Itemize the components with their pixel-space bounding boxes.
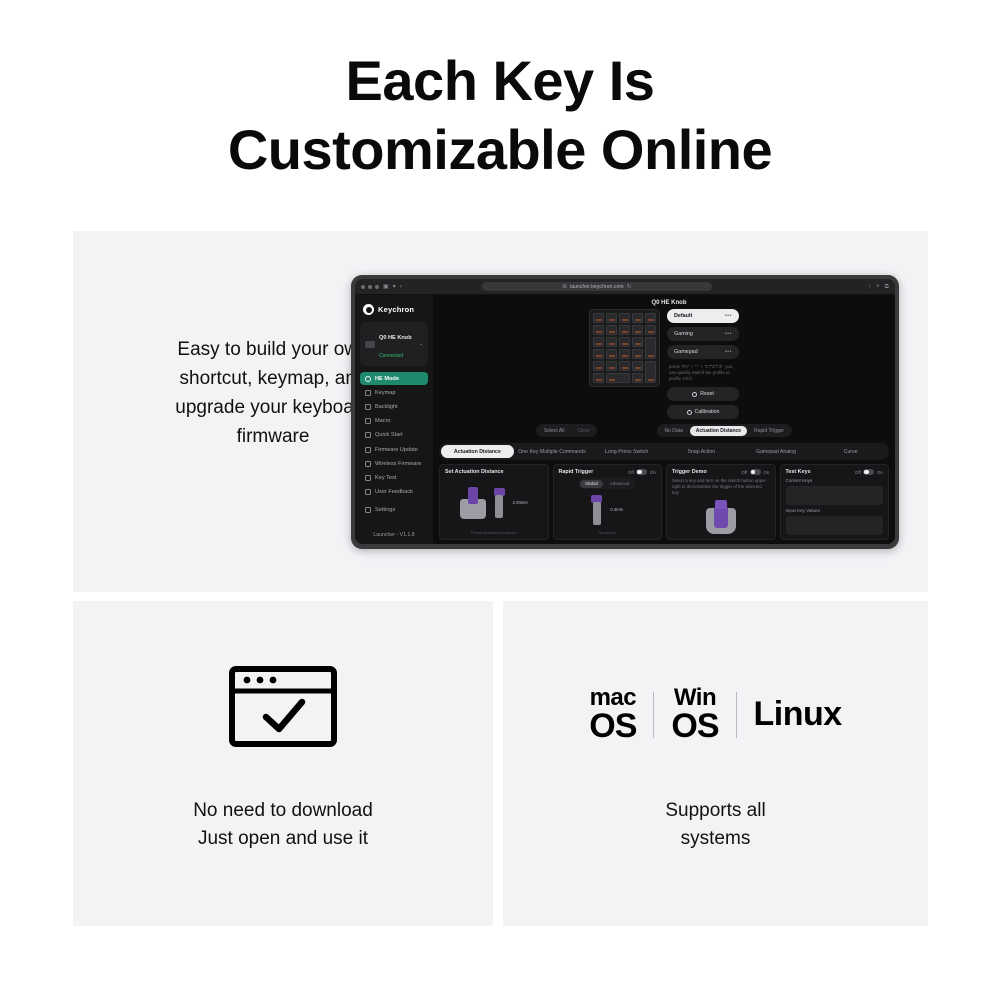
switch-top <box>715 500 727 509</box>
feature-card-download: No need to download Just open and use it <box>73 601 493 926</box>
laptop-mockup: ▣ ▾ ‹ ⊕ launcher.keychron.com ↻ ↑ + ⧉ <box>351 275 899 549</box>
toolbar-row: Select All Clear No Data Actuation Dista… <box>439 423 889 439</box>
laptop-screen: ▣ ▾ ‹ ⊕ launcher.keychron.com ↻ ↑ + ⧉ <box>355 279 895 544</box>
hero-card: Easy to build your own shortcut, keymap,… <box>73 231 928 592</box>
launcher-app: Keychron Q0 HE Knob Connected ⌄ <box>355 295 895 544</box>
input-key-values-field[interactable] <box>786 516 884 535</box>
panel-trigger-demo: Trigger Demo Off On Select a key and tur… <box>666 464 776 540</box>
keyboard-section: Q0 HE Knob <box>439 300 889 419</box>
sidebar-item-label: Keymap <box>375 390 396 396</box>
device-name: Q0 HE Knob <box>379 335 412 341</box>
device-text: Q0 HE Knob Connected <box>379 326 415 362</box>
sidebar-item-label: Macro <box>375 418 391 424</box>
toggle-off-label: Off <box>741 470 747 475</box>
sidebar-item-label: User Feedback <box>375 489 413 495</box>
sidebar-item-firmware-update[interactable]: Firmware Update <box>360 443 428 456</box>
key[interactable] <box>632 373 643 383</box>
more-icon[interactable]: ••• <box>725 349 732 355</box>
divider <box>653 692 654 738</box>
tab-gamepad-analog[interactable]: Gamepad Analog <box>740 445 813 458</box>
keyboard-icon <box>365 341 375 348</box>
sidebar-item-label: Backlight <box>375 404 398 410</box>
panel-test-keys: Test Keys Off On Current Keys Input <box>780 464 890 540</box>
selection-tools: Select All Clear <box>536 424 597 437</box>
tab-actuation-distance[interactable]: Actuation Distance <box>441 445 514 458</box>
page-title: Each Key Is Customizable Online <box>0 46 1000 184</box>
calibration-button[interactable]: Calibration <box>667 405 739 419</box>
keyboard-and-profiles: Default ••• Gaming ••• Gamepad <box>589 309 739 419</box>
sidebar-item-he-mode[interactable]: HE Mode <box>360 372 428 385</box>
toggle-on-label: On <box>877 470 883 475</box>
sidebar-item-keymap[interactable]: Keymap <box>360 386 428 399</box>
toggle-off-label: Off <box>855 470 861 475</box>
more-icon[interactable]: ••• <box>725 331 732 337</box>
he-mode-icon <box>365 376 371 382</box>
switch-inner <box>714 506 728 528</box>
key[interactable] <box>619 361 630 371</box>
key[interactable] <box>606 337 617 347</box>
clear-button[interactable]: Clear <box>571 426 595 436</box>
view-mode-rapid-trigger[interactable]: Rapid Trigger <box>748 426 790 436</box>
download-caption: No need to download Just open and use it <box>73 797 493 853</box>
panel-title: Rapid Trigger <box>559 469 594 475</box>
tab-one-key-multiple-commands[interactable]: One Key Multiple Commands <box>516 445 589 458</box>
switch-housing-icon <box>460 487 486 519</box>
profile-gamepad[interactable]: Gamepad ••• <box>667 345 739 359</box>
key[interactable] <box>593 373 604 383</box>
tab-long-press-switch[interactable]: Long-Press Switch <box>590 445 663 458</box>
os-logo-row: mac OS Win OS Linux <box>503 687 928 742</box>
key[interactable] <box>606 349 617 359</box>
sidebar-item-label: Settings <box>375 507 395 513</box>
key-test-icon <box>365 475 371 481</box>
nav-divider <box>360 500 428 503</box>
sidebar-nav: HE Mode Keymap Backlight <box>360 372 428 526</box>
device-status: Connected <box>379 353 403 359</box>
key[interactable] <box>645 361 656 383</box>
wireless-firmware-icon <box>365 461 371 467</box>
profile-hint: press "Fn" + "`" + "1"/"2"/"3", you can … <box>667 363 739 383</box>
tab-overview-icon[interactable]: ⧉ <box>885 284 889 290</box>
toggle-off-label: Off <box>628 470 634 475</box>
back-icon[interactable]: ‹ <box>400 284 402 290</box>
sidebar-item-label: HE Mode <box>375 376 399 382</box>
app-sidebar: Keychron Q0 HE Knob Connected ⌄ <box>355 295 433 544</box>
mode-advanced[interactable]: Advanced <box>605 480 635 488</box>
sidebar-item-label: Quick Start <box>375 432 403 438</box>
rapid-trigger-caption: Sensitivity <box>559 530 657 535</box>
actuation-caption: Preset Actuation Distance <box>445 530 543 535</box>
slider-rod <box>593 502 601 525</box>
panel-header: Rapid Trigger Off On <box>559 469 657 475</box>
view-mode-switch: No Data Actuation Distance Rapid Trigger <box>657 424 792 437</box>
rapid-trigger-slider[interactable] <box>591 495 602 525</box>
launcher-version: Launcher - V1.1.8 <box>360 528 428 540</box>
current-keys-field[interactable] <box>786 486 884 505</box>
macro-icon <box>365 418 371 424</box>
panel-title: Set Actuation Distance <box>445 469 504 475</box>
panel-rapid-trigger: Rapid Trigger Off On Global Adv <box>553 464 663 540</box>
app-main: Q0 HE Knob <box>433 295 895 544</box>
switch-stem <box>468 487 478 504</box>
winos-logo: Win OS <box>671 687 718 742</box>
rapid-trigger-value: 0.4mm <box>610 507 623 512</box>
chevron-down-icon[interactable]: ▾ <box>393 284 396 290</box>
key[interactable] <box>619 313 630 323</box>
brand: Keychron <box>360 301 428 320</box>
user-feedback-icon <box>365 489 371 495</box>
slider-rod <box>495 495 503 518</box>
gear-icon <box>365 507 371 513</box>
key[interactable] <box>606 313 617 323</box>
key[interactable] <box>606 373 630 383</box>
toggle-on-label: On <box>650 470 656 475</box>
backlight-icon <box>365 404 371 410</box>
sidebar-item-macro[interactable]: Macro <box>360 415 428 428</box>
sidebar-item-label: Wireless Firmware <box>375 461 421 467</box>
toggle-switch[interactable] <box>750 469 761 475</box>
promo-page: Each Key Is Customizable Online Easy to … <box>0 0 1000 1000</box>
panel-header: Trigger Demo Off On <box>672 469 770 475</box>
reset-icon <box>692 392 697 397</box>
panel-header: Set Actuation Distance <box>445 469 543 475</box>
linux-logo: Linux <box>754 695 842 734</box>
key[interactable] <box>593 325 604 335</box>
key[interactable] <box>645 325 656 335</box>
profile-default[interactable]: Default ••• <box>667 309 739 323</box>
download-caption-line-2: Just open and use it <box>73 825 493 853</box>
calibration-label: Calibration <box>695 409 720 415</box>
download-caption-line-1: No need to download <box>73 797 493 825</box>
systems-caption-line-1: Supports all <box>503 797 928 825</box>
new-tab-icon[interactable]: + <box>876 284 880 290</box>
key[interactable] <box>645 337 656 359</box>
keypad-layout[interactable] <box>589 309 660 387</box>
key[interactable] <box>593 349 604 359</box>
key[interactable] <box>619 337 630 347</box>
macos-logo: mac OS <box>589 687 636 742</box>
shield-icon: ⊕ <box>562 284 567 290</box>
browser-check-icon <box>228 665 338 753</box>
sidebar-item-key-test[interactable]: Key Test <box>360 471 428 484</box>
page-title-line-1: Each Key Is <box>346 49 655 112</box>
brand-name: Keychron <box>378 305 414 314</box>
mode-global[interactable]: Global <box>580 480 603 488</box>
keyboard-title: Q0 HE Knob <box>651 300 686 306</box>
profile-label: Gamepad <box>674 349 698 355</box>
actuation-illustration: 2.00mm <box>445 478 543 527</box>
rapid-trigger-toggle[interactable]: Off On <box>628 469 656 475</box>
systems-caption: Supports all systems <box>503 797 928 853</box>
key[interactable] <box>632 325 643 335</box>
share-icon[interactable]: ↑ <box>868 284 871 290</box>
tab-curve[interactable]: Curve <box>814 445 887 458</box>
panel-row: Set Actuation Distance <box>439 464 889 540</box>
select-all-button[interactable]: Select All <box>538 426 571 436</box>
key[interactable] <box>645 313 656 323</box>
quick-start-icon <box>365 432 371 438</box>
address-bar-url: launcher.keychron.com <box>570 284 624 290</box>
sidebar-item-user-feedback[interactable]: User Feedback <box>360 486 428 499</box>
reset-button[interactable]: Reset <box>667 387 739 401</box>
toggle-on-label: On <box>763 470 769 475</box>
key[interactable] <box>632 337 643 347</box>
profile-gaming[interactable]: Gaming ••• <box>667 327 739 341</box>
test-keys-toggle[interactable]: Off On <box>855 469 883 475</box>
trigger-demo-toggle[interactable]: Off On <box>741 469 769 475</box>
reset-label: Reset <box>700 391 714 397</box>
view-mode-actuation-distance[interactable]: Actuation Distance <box>690 426 747 436</box>
actuation-slider[interactable] <box>494 488 505 518</box>
toggle-switch[interactable] <box>636 469 647 475</box>
window-traffic-lights[interactable] <box>361 285 379 289</box>
panel-set-actuation-distance: Set Actuation Distance <box>439 464 549 540</box>
switch-cutaway-icon <box>706 500 736 534</box>
actuation-value: 2.00mm <box>513 500 528 505</box>
calibration-icon <box>687 410 692 415</box>
sidebar-toggle-icon[interactable]: ▣ <box>383 284 389 290</box>
key[interactable] <box>593 313 604 323</box>
toggle-switch[interactable] <box>863 469 874 475</box>
browser-chrome: ▣ ▾ ‹ ⊕ launcher.keychron.com ↻ ↑ + ⧉ <box>355 279 895 295</box>
more-icon[interactable]: ••• <box>725 313 732 319</box>
profile-label: Default <box>674 313 692 319</box>
address-bar[interactable]: ⊕ launcher.keychron.com ↻ <box>482 282 712 291</box>
key[interactable] <box>632 313 643 323</box>
input-key-values-label: Input Key Values <box>786 508 884 513</box>
key[interactable] <box>632 361 643 371</box>
panel-header: Test Keys Off On <box>786 469 884 475</box>
feature-card-systems: mac OS Win OS Linux Supports all systems <box>503 601 928 926</box>
macos-logo-bottom: OS <box>589 710 636 742</box>
systems-caption-line-2: systems <box>503 825 928 853</box>
sidebar-item-backlight[interactable]: Backlight <box>360 400 428 413</box>
view-mode-no-data[interactable]: No Data <box>658 426 688 436</box>
rapid-trigger-illustration: 0.4mm <box>559 492 657 527</box>
current-keys-label: Current Keys <box>786 478 884 483</box>
key[interactable] <box>606 325 617 335</box>
winos-logo-bottom: OS <box>671 710 718 742</box>
key[interactable] <box>632 349 643 359</box>
rapid-trigger-mode-switch: Global Advanced <box>579 478 636 489</box>
sidebar-item-label: Firmware Update <box>375 447 418 453</box>
profile-list: Default ••• Gaming ••• Gamepad <box>667 309 739 419</box>
browser-actions: ↑ + ⧉ <box>868 284 889 290</box>
keymap-icon <box>365 390 371 396</box>
tab-snap-action[interactable]: Snap Action <box>665 445 738 458</box>
sidebar-item-quick-start[interactable]: Quick Start <box>360 429 428 442</box>
device-selector[interactable]: Q0 HE Knob Connected ⌄ <box>360 322 428 366</box>
panel-title: Test Keys <box>786 469 811 475</box>
key[interactable] <box>606 361 617 371</box>
trigger-demo-illustration <box>672 499 770 535</box>
keychron-logo-icon <box>363 304 374 315</box>
chevron-down-icon[interactable]: ⌄ <box>419 341 423 347</box>
trigger-demo-description: Select a key and turn on the switch butt… <box>672 478 770 496</box>
key[interactable] <box>593 361 604 371</box>
sidebar-item-label: Key Test <box>375 475 396 481</box>
sidebar-item-wireless-firmware[interactable]: Wireless Firmware <box>360 457 428 470</box>
panel-title: Trigger Demo <box>672 469 707 475</box>
key[interactable] <box>593 337 604 347</box>
feature-tabs: Actuation Distance One Key Multiple Comm… <box>439 443 889 460</box>
divider <box>736 692 737 738</box>
sidebar-item-settings[interactable]: Settings <box>360 504 428 517</box>
key[interactable] <box>619 325 630 335</box>
firmware-update-icon <box>365 447 371 453</box>
key[interactable] <box>619 349 630 359</box>
reload-icon[interactable]: ↻ <box>627 284 632 290</box>
page-title-line-2: Customizable Online <box>0 115 1000 184</box>
profile-label: Gaming <box>674 331 693 337</box>
